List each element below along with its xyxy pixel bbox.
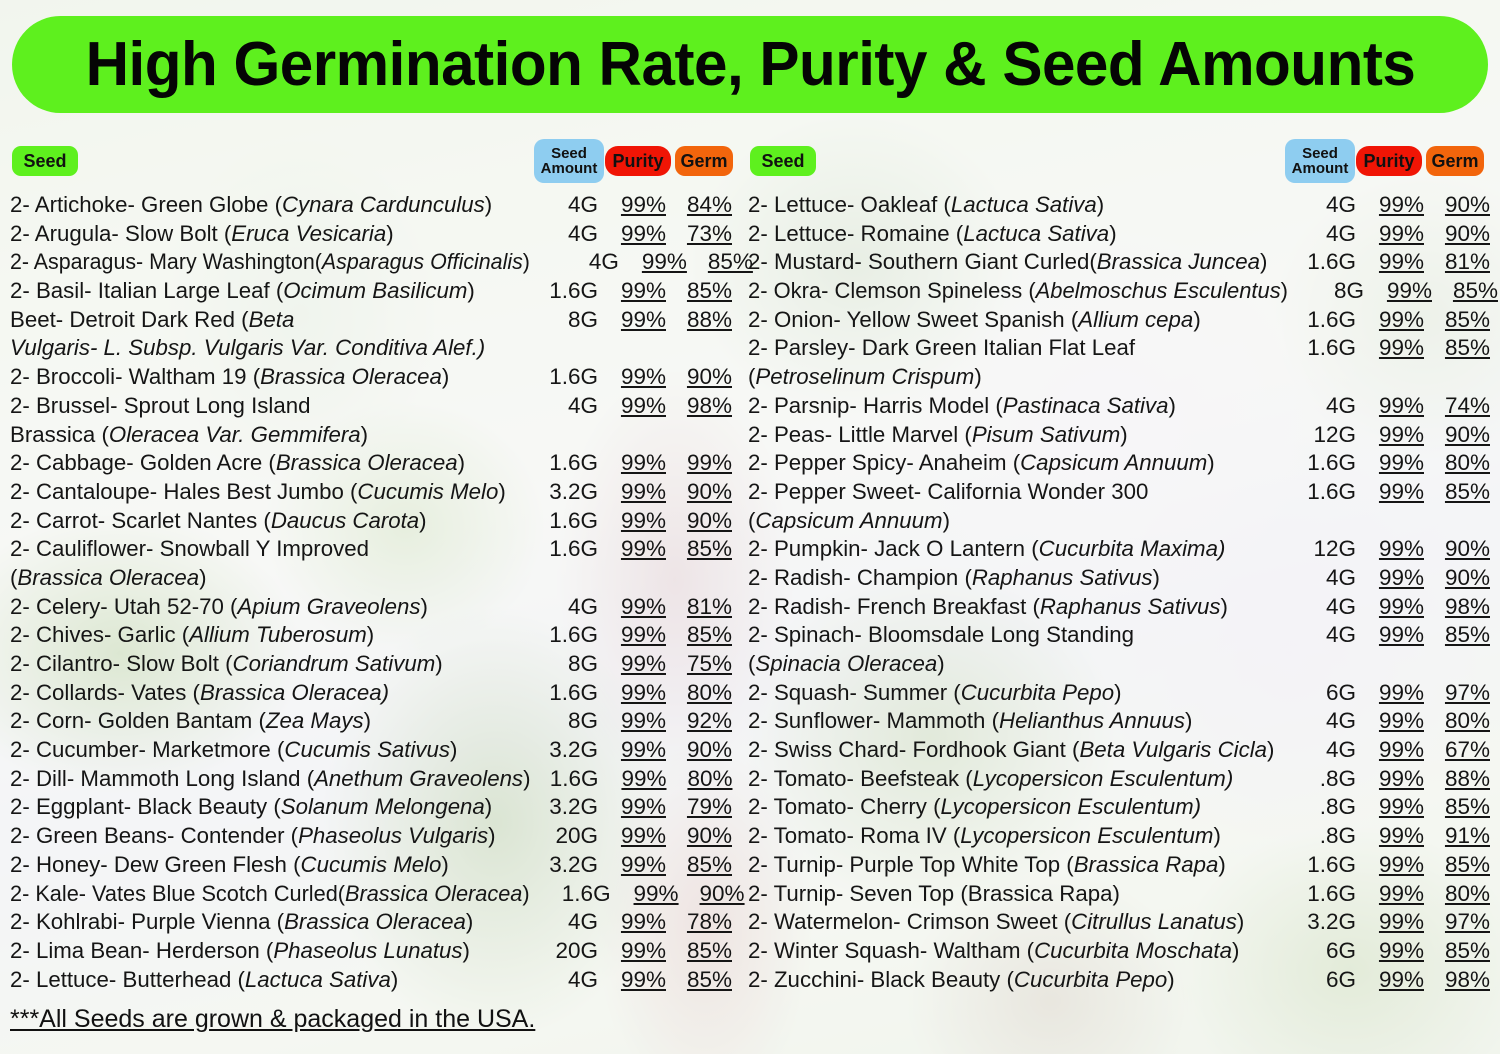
seed-amount-value: 1.6G [1294,881,1356,907]
seed-row: 2- Honey- Dew Green Flesh (Cucumis Melo)… [10,852,732,881]
germ-badge-right: Germ [1426,146,1484,176]
seed-amount-value: 1.6G [536,766,598,792]
germ-value: 85% [666,622,732,648]
seed-row: (Brassica Oleracea) [10,565,732,594]
scientific-name: Beta [249,307,295,332]
seed-row: 2- Winter Squash- Waltham (Cucurbita Mos… [748,938,1490,967]
seed-amount-label-line2: Amount [541,161,598,176]
germ-value: 97% [1424,909,1490,935]
seed-amount-label-line1: Seed [551,146,587,161]
germ-value: 67% [1424,737,1490,763]
purity-value: 99% [1356,852,1424,878]
purity-value: 99% [598,766,666,792]
seed-name: 2- Broccoli- Waltham 19 (Brassica Olerac… [10,364,530,390]
purity-value: 99% [598,938,666,964]
seed-amount-value: 6G [1294,680,1356,706]
seed-row: 2- Squash- Summer (Cucurbita Pepo)6G99%9… [748,680,1490,709]
scientific-name: Cucumis Sativus [284,737,450,762]
purity-value: 99% [1356,881,1424,907]
seed-row: 2- Mustard- Southern Giant Curled(Brassi… [748,249,1490,278]
seed-row: 2- Zucchini- Black Beauty (Cucurbita Pep… [748,967,1490,996]
purity-value: 99% [598,680,666,706]
germ-value: 81% [666,594,732,620]
seed-amount-value: 4G [1294,622,1356,648]
scientific-name: Brassica Oleracea [260,364,442,389]
purity-value: 99% [598,651,666,677]
scientific-name: Brassica Oleracea [284,909,466,934]
seed-amount-value: 20G [536,823,598,849]
purity-value: 99% [598,364,666,390]
scientific-name: Ocimum Basilicum [283,278,467,303]
seed-name: 2- Cilantro- Slow Bolt (Coriandrum Sativ… [10,651,530,677]
seed-name: 2- Peas- Little Marvel (Pisum Sativum) [748,422,1288,448]
seed-amount-value: 8G [536,307,598,333]
seed-row: 2- Turnip- Seven Top (Brassica Rapa)1.6G… [748,881,1490,910]
seed-row: 2- Asparagus- Mary Washington(Asparagus … [10,249,732,278]
purity-value: 99% [598,737,666,763]
scientific-name: Cucumis Melo [357,479,498,504]
scientific-name: Brassica Oleracea [345,881,522,906]
scientific-name: Zea Mays [266,708,364,733]
purity-value: 99% [619,249,687,275]
seed-amount-value: 12G [1294,422,1356,448]
seed-name: 2- Turnip- Seven Top (Brassica Rapa) [748,881,1288,907]
seed-amount-value: 12G [1294,536,1356,562]
germ-value: 74% [1424,393,1490,419]
seed-row: 2- Cauliflower- Snowball Y Improved1.6G9… [10,536,732,565]
scientific-name: Cucurbita Maxima) [1039,536,1226,561]
scientific-name: Lactuca Sativa [951,192,1097,217]
germ-value: 85% [666,278,732,304]
seed-row: Vulgaris- L. Subsp. Vulgaris Var. Condit… [10,335,732,364]
scientific-name: Brassica Rapa [1074,852,1219,877]
seed-name: 2- Artichoke- Green Globe (Cynara Cardun… [10,192,530,218]
scientific-name: Brassica Juncea [1097,249,1260,274]
scientific-name: Abelmoschus Esculentus [1036,278,1281,303]
scientific-name: Spinacia Oleracea [755,651,937,676]
scientific-name: Allium cepa [1078,307,1193,332]
seed-name: 2- Lettuce- Oakleaf (Lactuca Sativa) [748,192,1288,218]
scientific-name: Cucurbita Pepo [961,680,1114,705]
seed-name: (Petroselinum Crispum) [748,364,1288,390]
seed-row: 2- Turnip- Purple Top White Top (Brassic… [748,852,1490,881]
seed-name: 2- Dill- Mammoth Long Island (Anethum Gr… [10,766,530,792]
seed-amount-label-line1: Seed [1302,146,1338,161]
seed-row: (Petroselinum Crispum) [748,364,1490,393]
purity-value: 99% [598,307,666,333]
seed-amount-value: 8G [536,651,598,677]
seed-row: 2- Broccoli- Waltham 19 (Brassica Olerac… [10,364,732,393]
left-column-header: Seed Seed Amount Purity Germ [10,140,732,192]
purity-value: 99% [1356,307,1424,333]
seed-row: 2- Tomato- Roma IV (Lycopersicon Esculen… [748,823,1490,852]
seed-name: 2- Spinach- Bloomsdale Long Standing [748,622,1288,648]
germ-value: 90% [666,364,732,390]
seed-row: 2- Watermelon- Crimson Sweet (Citrullus … [748,909,1490,938]
seed-row: (Spinacia Oleracea) [748,651,1490,680]
seed-amount-value: 1.6G [1294,450,1356,476]
seed-row: 2- Sunflower- Mammoth (Helianthus Annuus… [748,708,1490,737]
scientific-name: Lactuca Sativa [245,967,391,992]
seed-amount-value: 1.6G [536,508,598,534]
purity-value: 99% [1364,278,1432,304]
germ-value: 80% [666,680,732,706]
seed-name: 2- Zucchini- Black Beauty (Cucurbita Pep… [748,967,1288,993]
seed-amount-value: 4G [536,909,598,935]
germ-value: 90% [1424,192,1490,218]
seed-name: 2- Pepper Spicy- Anaheim (Capsicum Annuu… [748,450,1288,476]
germ-value: 85% [666,536,732,562]
page-title: High Germination Rate, Purity & Seed Amo… [85,29,1415,100]
purity-value: 99% [598,393,666,419]
seed-row: 2- Pepper Spicy- Anaheim (Capsicum Annuu… [748,450,1490,479]
seed-amount-value: 3.2G [536,852,598,878]
purity-value: 99% [598,594,666,620]
seed-row: 2- Chives- Garlic (Allium Tuberosum)1.6G… [10,622,732,651]
seed-name: 2- Watermelon- Crimson Sweet (Citrullus … [748,909,1288,935]
seed-amount-value: 3.2G [536,737,598,763]
germ-value: 90% [666,508,732,534]
scientific-name: Daucus Carota [271,508,419,533]
purity-value: 99% [1356,909,1424,935]
seed-name: 2- Sunflower- Mammoth (Helianthus Annuus… [748,708,1288,734]
seed-amount-value: 1.6G [536,622,598,648]
germ-value: 98% [1424,594,1490,620]
seed-name: (Spinacia Oleracea) [748,651,1288,677]
seed-row: 2- Lettuce- Romaine (Lactuca Sativa)4G99… [748,221,1490,250]
scientific-name: Cucumis Melo [301,852,442,877]
scientific-name: Cucurbita Moschata [1034,938,1232,963]
scientific-name: Helianthus Annuus [999,708,1185,733]
scientific-name: Oleracea Var. Gemmifera [109,422,361,447]
seed-row: 2- Cabbage- Golden Acre (Brassica Olerac… [10,450,732,479]
seed-amount-value: 3.2G [1294,909,1356,935]
seed-amount-value: 1.6G [1294,307,1356,333]
germ-value: 90% [1424,536,1490,562]
seed-chart-page: High Germination Rate, Purity & Seed Amo… [0,0,1500,1054]
purity-value: 99% [598,794,666,820]
scientific-name: Vulgaris- L. Subsp. Vulgaris Var. Condit… [10,335,485,360]
purity-value: 99% [598,852,666,878]
seed-row: 2- Swiss Chard- Fordhook Giant (Beta Vul… [748,737,1490,766]
seed-name: 2- Chives- Garlic (Allium Tuberosum) [10,622,530,648]
germ-value: 88% [1424,766,1490,792]
purity-badge-left: Purity [605,146,671,176]
seed-row: 2- Okra- Clemson Spineless (Abelmoschus … [748,278,1490,307]
purity-value: 99% [598,221,666,247]
germ-value: 85% [666,967,732,993]
purity-value: 99% [1356,536,1424,562]
seed-amount-value: 4G [536,967,598,993]
seed-amount-value: 4G [536,594,598,620]
germ-value: 92% [666,708,732,734]
seed-name: 2- Carrot- Scarlet Nantes (Daucus Carota… [10,508,530,534]
purity-value: 99% [598,622,666,648]
seed-row: 2- Lettuce- Oakleaf (Lactuca Sativa)4G99… [748,192,1490,221]
purity-value: 99% [1356,450,1424,476]
purity-value: 99% [1356,737,1424,763]
germ-value: 88% [666,307,732,333]
seed-badge-right: Seed [750,146,816,176]
seed-badge-left: Seed [12,146,78,176]
scientific-name: Capsicum Annuum [1020,450,1207,475]
scientific-name: Brassica Oleracea [17,565,199,590]
germ-value: 85% [1424,479,1490,505]
seed-row: 2- Green Beans- Contender (Phaseolus Vul… [10,823,732,852]
germ-value: 90% [666,737,732,763]
scientific-name: Lycopersicon Esculentum) [941,794,1202,819]
seed-name: 2- Squash- Summer (Cucurbita Pepo) [748,680,1288,706]
seed-amount-value: 1.6G [536,680,598,706]
seed-row: 2- Radish- French Breakfast (Raphanus Sa… [748,594,1490,623]
seed-name: 2- Brussel- Sprout Long Island [10,393,530,419]
purity-value: 99% [598,192,666,218]
seed-row: 2- Pumpkin- Jack O Lantern (Cucurbita Ma… [748,536,1490,565]
germ-value: 85% [1432,278,1498,304]
germ-value: 84% [666,192,732,218]
germ-value: 98% [1424,967,1490,993]
scientific-name: Lycopersicon Esculentum [960,823,1213,848]
scientific-name: Anethum Graveolens [314,766,523,791]
seed-amount-value: 1.6G [536,278,598,304]
seed-amount-value: 4G [557,249,619,275]
germ-value: 90% [666,479,732,505]
seed-name: 2- Radish- Champion (Raphanus Sativus) [748,565,1288,591]
scientific-name: Solanum Melongena [281,794,485,819]
seed-name: Beet- Detroit Dark Red (Beta [10,307,530,333]
seed-name: (Brassica Oleracea) [10,565,530,591]
purity-value: 99% [1356,422,1424,448]
seed-name: 2- Onion- Yellow Sweet Spanish (Allium c… [748,307,1288,333]
purity-value: 99% [598,450,666,476]
seed-name: 2- Tomato- Cherry (Lycopersicon Esculent… [748,794,1288,820]
title-banner: High Germination Rate, Purity & Seed Amo… [12,16,1488,113]
seed-name: 2- Mustard- Southern Giant Curled(Brassi… [748,249,1288,275]
seed-row: 2- Pepper Sweet- California Wonder 3001.… [748,479,1490,508]
purity-value: 99% [1356,479,1424,505]
scientific-name: Lycopersicon Esculentum) [973,766,1234,791]
seed-amount-value: 4G [1294,737,1356,763]
seed-amount-value: 1.6G [1294,249,1356,275]
seed-row: 2- Tomato- Beefsteak (Lycopersicon Escul… [748,766,1490,795]
seed-row: 2- Brussel- Sprout Long Island4G99%98% [10,393,732,422]
germ-value: 90% [1424,565,1490,591]
scientific-name: Cynara Cardunculus [282,192,485,217]
seed-name: 2- Lettuce- Romaine (Lactuca Sativa) [748,221,1288,247]
germ-value: 80% [1424,450,1490,476]
purity-value: 99% [1356,622,1424,648]
seed-name: 2- Corn- Golden Bantam (Zea Mays) [10,708,530,734]
seed-amount-value: .8G [1294,766,1356,792]
seed-amount-value: 4G [1294,192,1356,218]
seed-amount-value: 1.6G [549,881,611,907]
purity-value: 99% [598,708,666,734]
scientific-name: Brassica Oleracea) [200,680,389,705]
seed-row: 2- Carrot- Scarlet Nantes (Daucus Carota… [10,508,732,537]
germ-value: 85% [1424,938,1490,964]
seed-name: 2- Lima Bean- Herderson (Phaseolus Lunat… [10,938,530,964]
scientific-name: Phaseolus Lunatus [273,938,462,963]
scientific-name: Beta Vulgaris Cicla [1079,737,1267,762]
germ-value: 81% [1424,249,1490,275]
seed-name: 2- Cabbage- Golden Acre (Brassica Olerac… [10,450,530,476]
seed-amount-value: .8G [1294,794,1356,820]
seed-name: 2- Parsnip- Harris Model (Pastinaca Sati… [748,393,1288,419]
germ-value: 85% [1424,307,1490,333]
germ-value: 85% [1424,335,1490,361]
seed-amount-badge-left: Seed Amount [534,139,604,183]
seed-name: 2- Okra- Clemson Spineless (Abelmoschus … [748,278,1288,304]
purity-value: 99% [1356,823,1424,849]
purity-badge-right: Purity [1356,146,1422,176]
purity-value: 99% [1356,967,1424,993]
purity-value: 99% [598,823,666,849]
germ-value: 79% [666,794,732,820]
germ-value: 90% [1424,422,1490,448]
seed-amount-value: 20G [536,938,598,964]
seed-row: (Capsicum Annuum) [748,508,1490,537]
seed-amount-value: 4G [1294,565,1356,591]
seed-amount-value: 4G [1294,594,1356,620]
seed-amount-value: 4G [1294,708,1356,734]
seed-name: 2- Eggplant- Black Beauty (Solanum Melon… [10,794,530,820]
scientific-name: Raphanus Sativus [972,565,1153,590]
seed-name: 2- Celery- Utah 52-70 (Apium Graveolens) [10,594,530,620]
purity-value: 99% [1356,594,1424,620]
purity-value: 99% [1356,766,1424,792]
germ-value: 85% [1424,794,1490,820]
seed-name: 2- Tomato- Beefsteak (Lycopersicon Escul… [748,766,1288,792]
scientific-name: Apium Graveolens [237,594,420,619]
seed-amount-value: 1.6G [536,364,598,390]
seed-name: 2- Lettuce- Butterhead (Lactuca Sativa) [10,967,530,993]
scientific-name: Capsicum Annuum [755,508,942,533]
seed-amount-value: 4G [536,393,598,419]
seed-amount-value: 4G [536,192,598,218]
purity-value: 99% [1356,221,1424,247]
seed-name: (Capsicum Annuum) [748,508,1288,534]
seed-row: 2- Artichoke- Green Globe (Cynara Cardun… [10,192,732,221]
right-column-header: Seed Seed Amount Purity Germ [748,140,1490,192]
seed-row: 2- Basil- Italian Large Leaf (Ocimum Bas… [10,278,732,307]
germ-value: 85% [1424,622,1490,648]
seed-name: 2- Asparagus- Mary Washington(Asparagus … [10,249,530,275]
seed-amount-value: 1.6G [1294,852,1356,878]
seed-amount-badge-right: Seed Amount [1285,139,1355,183]
scientific-name: Cucurbita Pepo [1014,967,1167,992]
seed-row: 2- Kale- Vates Blue Scotch Curled(Brassi… [10,881,732,910]
usa-disclaimer: ***All Seeds are grown & packaged in the… [10,1005,535,1034]
germ-value: 90% [1424,221,1490,247]
scientific-name: Raphanus Sativus [1040,594,1221,619]
purity-value: 99% [598,536,666,562]
purity-value: 99% [598,508,666,534]
seed-name: 2- Pepper Sweet- California Wonder 300 [748,479,1288,505]
scientific-name: Brassica Oleracea [276,450,458,475]
seed-name: 2- Collards- Vates (Brassica Oleracea) [10,680,530,706]
seed-amount-value: 4G [1294,393,1356,419]
purity-value: 99% [1356,393,1424,419]
purity-value: 99% [1356,335,1424,361]
scientific-name: Pisum Sativum [972,422,1120,447]
purity-value: 99% [611,881,679,907]
germ-value: 91% [1424,823,1490,849]
germ-value: 75% [666,651,732,677]
germ-value: 80% [1424,708,1490,734]
purity-value: 99% [598,479,666,505]
seed-row: 2- Parsley- Dark Green Italian Flat Leaf… [748,335,1490,364]
seed-name: 2- Cucumber- Marketmore (Cucumis Sativus… [10,737,530,763]
seed-name: 2- Kale- Vates Blue Scotch Curled(Brassi… [10,881,530,907]
purity-value: 99% [1356,708,1424,734]
seed-row: 2- Kohlrabi- Purple Vienna (Brassica Ole… [10,909,732,938]
seed-name: 2- Cauliflower- Snowball Y Improved [10,536,530,562]
seed-row: 2- Celery- Utah 52-70 (Apium Graveolens)… [10,594,732,623]
scientific-name: Asparagus Officinalis [322,249,523,274]
purity-value: 99% [1356,249,1424,275]
germ-value: 90% [679,881,745,907]
seed-amount-label-line2: Amount [1292,161,1349,176]
seed-row: 2- Cilantro- Slow Bolt (Coriandrum Sativ… [10,651,732,680]
germ-value: 85% [666,938,732,964]
seed-row: 2- Dill- Mammoth Long Island (Anethum Gr… [10,766,732,795]
seed-amount-value: 4G [536,221,598,247]
germ-value: 85% [666,852,732,878]
seed-name: 2- Radish- French Breakfast (Raphanus Sa… [748,594,1288,620]
seed-row: 2- Radish- Champion (Raphanus Sativus)4G… [748,565,1490,594]
seed-name: 2- Swiss Chard- Fordhook Giant (Beta Vul… [748,737,1288,763]
seed-name: 2- Pumpkin- Jack O Lantern (Cucurbita Ma… [748,536,1288,562]
scientific-name: Citrullus Lanatus [1071,909,1237,934]
germ-value: 99% [666,450,732,476]
germ-value: 85% [687,249,753,275]
germ-value: 98% [666,393,732,419]
scientific-name: Petroselinum Crispum [755,364,974,389]
purity-value: 99% [1356,680,1424,706]
seed-amount-value: 6G [1294,967,1356,993]
seed-name: 2- Green Beans- Contender (Phaseolus Vul… [10,823,530,849]
seed-row: 2- Spinach- Bloomsdale Long Standing4G99… [748,622,1490,651]
seed-row: 2- Cantaloupe- Hales Best Jumbo (Cucumis… [10,479,732,508]
seed-amount-value: 1.6G [1294,479,1356,505]
seed-name: 2- Tomato- Roma IV (Lycopersicon Esculen… [748,823,1288,849]
seed-row: Beet- Detroit Dark Red (Beta8G99%88% [10,307,732,336]
seed-amount-value: 1.6G [1294,335,1356,361]
seed-amount-value: 3.2G [536,479,598,505]
seed-name: 2- Turnip- Purple Top White Top (Brassic… [748,852,1288,878]
seed-amount-value: .8G [1294,823,1356,849]
seed-name: Vulgaris- L. Subsp. Vulgaris Var. Condit… [10,335,530,361]
scientific-name: Eruca Vesicaria [231,221,386,246]
purity-value: 99% [598,909,666,935]
seed-row: 2- Parsnip- Harris Model (Pastinaca Sati… [748,393,1490,422]
purity-value: 99% [1356,565,1424,591]
seed-row: 2- Cucumber- Marketmore (Cucumis Sativus… [10,737,732,766]
seed-row: 2- Arugula- Slow Bolt (Eruca Vesicaria)4… [10,221,732,250]
purity-value: 99% [1356,794,1424,820]
seed-name: 2- Arugula- Slow Bolt (Eruca Vesicaria) [10,221,530,247]
germ-value: 78% [666,909,732,935]
purity-value: 99% [598,967,666,993]
scientific-name: Coriandrum Sativum [233,651,436,676]
purity-value: 99% [1356,938,1424,964]
scientific-name: Phaseolus Vulgaris [298,823,488,848]
seed-amount-value: 1.6G [536,450,598,476]
seed-amount-value: 8G [1302,278,1364,304]
seed-row: 2- Tomato- Cherry (Lycopersicon Esculent… [748,794,1490,823]
seed-amount-value: 1.6G [536,536,598,562]
seed-name: Brassica (Oleracea Var. Gemmifera) [10,422,530,448]
